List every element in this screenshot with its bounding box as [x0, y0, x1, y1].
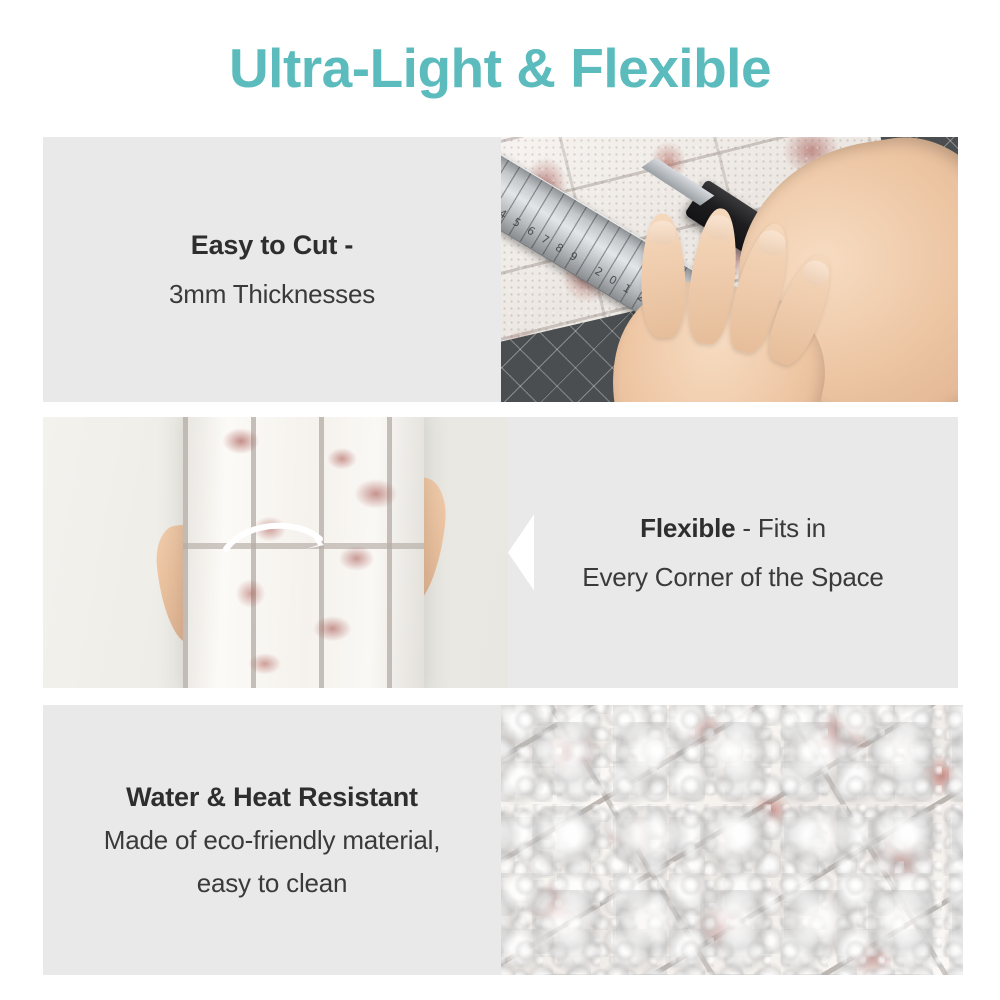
feature-subtext-flexible: Every Corner of the Space: [582, 562, 883, 593]
feature-subtext-line-2: easy to clean: [197, 868, 348, 899]
page-title: Ultra-Light & Flexible: [229, 41, 771, 96]
feature-heading-flexible: Flexible - Fits in: [640, 513, 826, 544]
feature-heading-easy-to-cut: Easy to Cut -: [191, 230, 353, 261]
feature-heading-flexible-bold: Flexible: [640, 513, 735, 543]
callout-notch: [508, 515, 534, 591]
feature-heading-rest: Fits in: [758, 513, 826, 543]
water-droplets-photo: [501, 705, 963, 975]
feature-text-water-heat-resistant: Water & Heat Resistant Made of eco-frien…: [43, 705, 501, 975]
water-droplets-layer-2: [501, 705, 963, 975]
cutting-panel-photo: 0123456789 20123456789 30123456789: [501, 137, 958, 402]
feature-subtext-easy-to-cut: 3mm Thicknesses: [169, 279, 375, 310]
feature-row-easy-to-cut: Easy to Cut - 3mm Thicknesses 0123456789…: [43, 137, 958, 402]
feature-text-easy-to-cut: Easy to Cut - 3mm Thicknesses: [43, 137, 501, 402]
feature-heading-separator: -: [735, 513, 758, 543]
feature-row-flexible: Flexible - Fits in Every Corner of the S…: [43, 417, 958, 688]
fingernail: [649, 221, 677, 245]
feature-subtext-line-1: Made of eco-friendly material,: [104, 825, 440, 856]
feature-row-water-heat-resistant: Water & Heat Resistant Made of eco-frien…: [43, 705, 963, 975]
feature-heading-water-heat-resistant: Water & Heat Resistant: [126, 782, 418, 813]
fingernail: [704, 214, 734, 241]
flexing-panel-photo: [43, 417, 508, 688]
feature-text-flexible: Flexible - Fits in Every Corner of the S…: [508, 417, 958, 688]
header: Ultra-Light & Flexible: [0, 0, 1000, 137]
bend-arrow-icon: [220, 515, 340, 575]
